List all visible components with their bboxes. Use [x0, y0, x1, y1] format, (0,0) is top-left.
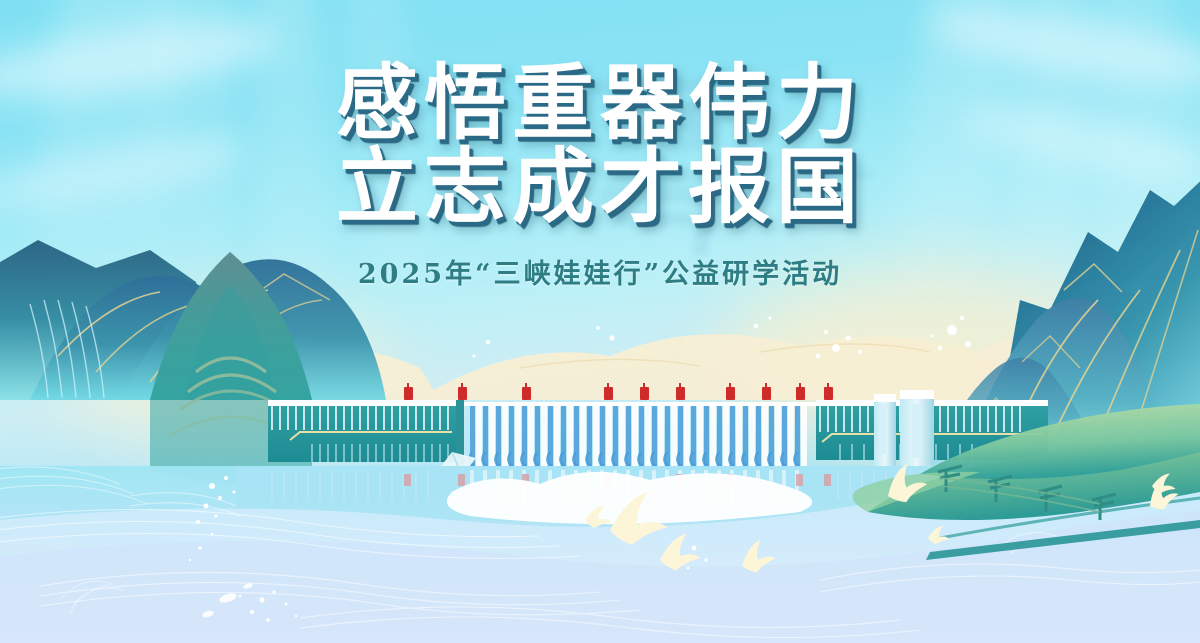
promo-banner: 感悟重器伟力 立志成才报国 2025年“三峡娃娃行”公益研学活动 [0, 0, 1200, 643]
bird [1151, 471, 1178, 496]
flag-reflections [404, 474, 831, 486]
title-line-2: 立志成才报国 [0, 146, 1200, 230]
bird [584, 503, 614, 531]
bird [882, 460, 931, 506]
bird [927, 524, 950, 546]
spillway-foam [447, 472, 812, 524]
river-water [0, 466, 1200, 643]
title-block: 感悟重器伟力 立志成才报国 2025年“三峡娃娃行”公益研学活动 [0, 62, 1200, 291]
foam-specks [201, 582, 253, 619]
bird [660, 533, 701, 570]
subtitle: 2025年“三峡娃娃行”公益研学活动 [0, 252, 1200, 291]
sun-haze [720, 270, 1140, 450]
spillway-chute [425, 452, 476, 528]
flying-swallows [584, 460, 1182, 574]
title-line-1: 感悟重器伟力 [0, 62, 1200, 146]
bird [738, 538, 777, 575]
dam-penstocks [469, 406, 807, 468]
sun-haze [60, 300, 390, 450]
bird [1143, 476, 1182, 513]
bird [610, 493, 668, 546]
power-pylons [938, 466, 1116, 520]
